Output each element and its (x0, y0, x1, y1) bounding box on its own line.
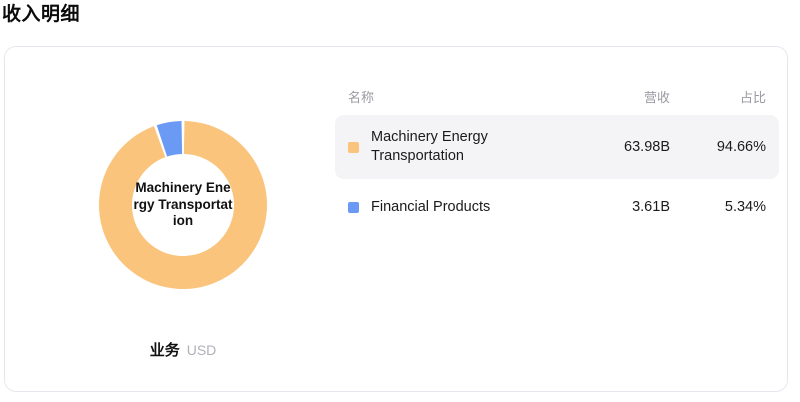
donut-footer-unit: USD (187, 342, 217, 358)
column-header-name: 名称 (348, 87, 574, 106)
donut-slices (99, 121, 267, 289)
legend-swatch-icon (348, 142, 359, 153)
donut-slice[interactable] (99, 121, 267, 289)
donut-footer-legend: 业务USD (95, 339, 271, 360)
table-cell-revenue: 3.61B (574, 199, 670, 215)
column-header-percent: 占比 (670, 87, 766, 106)
donut-footer-label: 业务 (150, 342, 180, 359)
table-cell-revenue: 63.98B (574, 139, 670, 155)
series-name: Financial Products (371, 198, 490, 217)
donut-chart-svg (95, 117, 271, 293)
table-header-row: 名称 营收 占比 (335, 83, 779, 109)
table-cell-percent: 5.34% (670, 199, 766, 215)
table-row[interactable]: Machinery Energy Transportation 63.98B 9… (335, 115, 779, 179)
table-cell-name: Financial Products (348, 198, 574, 217)
table-cell-name: Machinery Energy Transportation (348, 128, 574, 166)
table-cell-percent: 94.66% (670, 139, 766, 155)
column-header-revenue: 营收 (574, 87, 670, 106)
revenue-breakdown-card: Machinery Energy Transportation 业务USD 名称… (4, 46, 788, 392)
page-title: 收入明细 (2, 3, 80, 27)
series-name: Machinery Energy Transportation (371, 128, 551, 166)
donut-chart: Machinery Energy Transportation (95, 117, 271, 293)
legend-swatch-icon (348, 202, 359, 213)
table-row[interactable]: Financial Products 3.61B 5.34% (335, 179, 779, 235)
breakdown-table: 名称 营收 占比 Machinery Energy Transportation… (335, 83, 779, 235)
